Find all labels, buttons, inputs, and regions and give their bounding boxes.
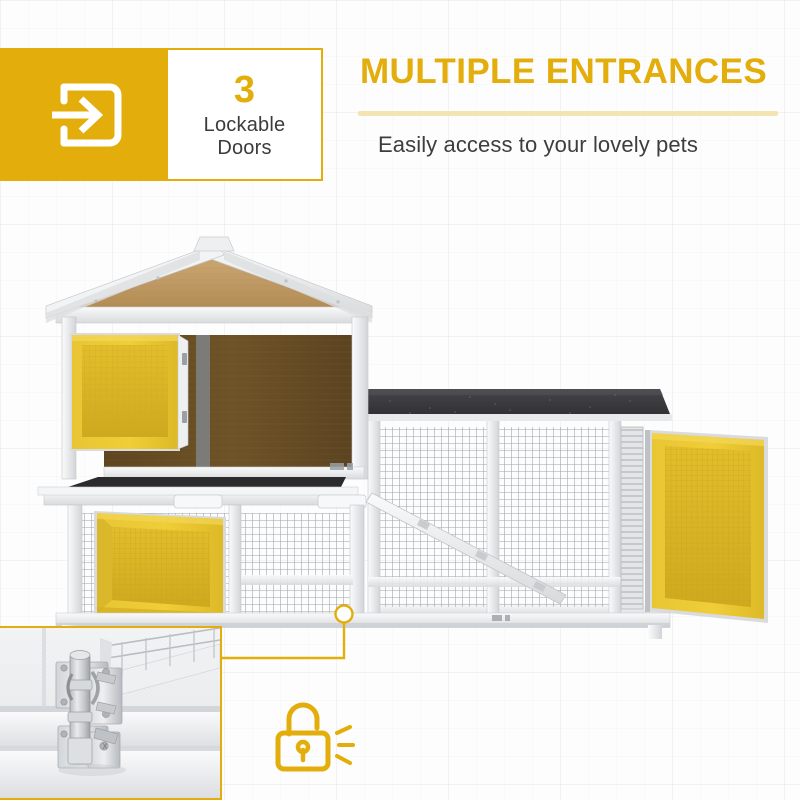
badge-icon-tile xyxy=(0,48,168,181)
pullout-tray xyxy=(38,477,366,508)
metal-slide-bolt-latch-closeup xyxy=(0,628,220,798)
detail-photo-inset xyxy=(0,626,222,800)
lock-icon-wrap xyxy=(272,697,358,773)
feature-badge: 3 Lockable Doors xyxy=(0,48,323,181)
subheadline: Easily access to your lovely pets xyxy=(378,132,788,158)
badge-text-box: 3 Lockable Doors xyxy=(168,48,323,181)
badge-label-line1: Lockable xyxy=(204,115,286,135)
enter-door-arrow-icon xyxy=(38,69,130,161)
run-door-open xyxy=(645,430,768,623)
infographic-canvas: 3 Lockable Doors MULTIPLE ENTRANCES Easi… xyxy=(0,0,800,800)
headline: MULTIPLE ENTRANCES xyxy=(360,52,790,92)
upper-door-open xyxy=(70,333,188,451)
badge-count: 3 xyxy=(234,71,255,109)
headline-divider xyxy=(358,111,778,116)
badge-label-line2: Doors xyxy=(217,138,271,158)
lower-door-open xyxy=(94,511,226,623)
product-illustration xyxy=(0,205,800,645)
open-padlock-icon xyxy=(272,697,358,773)
